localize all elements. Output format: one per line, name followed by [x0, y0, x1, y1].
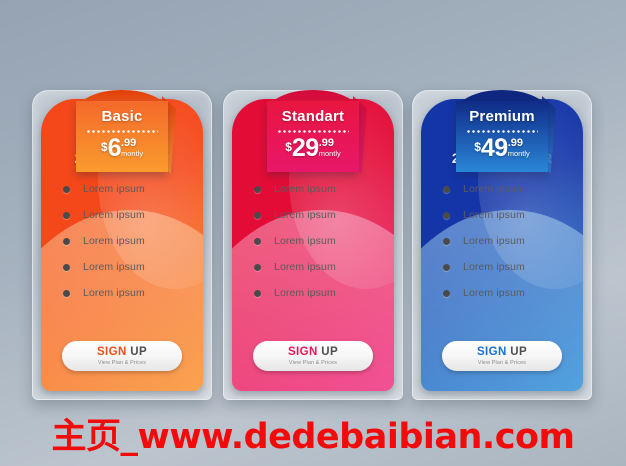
- signup-button[interactable]: SIGN UPView Plan & Prices: [62, 341, 182, 371]
- price-cents: .99: [508, 138, 523, 149]
- feature-list: Lorem ipsumLorem ipsumLorem ipsumLorem i…: [421, 177, 583, 307]
- plan-price: $29.99montly: [271, 137, 355, 163]
- signup-label-up: UP: [507, 346, 527, 358]
- signup-subtext: View Plan & Prices: [289, 360, 337, 366]
- signup-button[interactable]: SIGN UPView Plan & Prices: [253, 341, 373, 371]
- feature-label: Lorem ipsum: [463, 287, 525, 299]
- bullet-icon: [254, 186, 261, 193]
- bullet-icon: [63, 238, 70, 245]
- plan-ribbon: Premium$49.99montly: [456, 90, 548, 172]
- feature-item: Lorem ipsum: [57, 229, 187, 253]
- bullet-icon: [254, 238, 261, 245]
- price-cents: .99: [319, 138, 334, 149]
- feature-label: Lorem ipsum: [83, 235, 145, 247]
- dotted-divider: [277, 130, 349, 133]
- pricing-card-standart: 1 TB - 5 USERLorem ipsumLorem ipsumLorem…: [223, 90, 403, 400]
- plan-ribbon: Basic$6.99montly: [76, 90, 168, 172]
- bullet-icon: [254, 290, 261, 297]
- feature-item: Lorem ipsum: [57, 281, 187, 305]
- feature-item: Lorem ipsum: [437, 281, 567, 305]
- price-suffix: .99montly: [508, 138, 530, 158]
- feature-label: Lorem ipsum: [274, 183, 336, 195]
- feature-item: Lorem ipsum: [248, 177, 378, 201]
- signup-subtext: View Plan & Prices: [478, 360, 526, 366]
- feature-list: Lorem ipsumLorem ipsumLorem ipsumLorem i…: [41, 177, 203, 307]
- feature-label: Lorem ipsum: [463, 183, 525, 195]
- feature-label: Lorem ipsum: [274, 235, 336, 247]
- ribbon-body: Basic$6.99montly: [76, 101, 168, 172]
- feature-item: Lorem ipsum: [248, 229, 378, 253]
- price-amount: 49: [481, 137, 508, 160]
- pricing-plans-row: 2 GB - 1 USERLorem ipsumLorem ipsumLorem…: [0, 62, 626, 402]
- plan-name: Standart: [271, 109, 355, 125]
- feature-label: Lorem ipsum: [463, 235, 525, 247]
- signup-label-sign: SIGN: [477, 346, 507, 358]
- feature-label: Lorem ipsum: [274, 261, 336, 273]
- bullet-icon: [63, 212, 70, 219]
- bullet-icon: [443, 186, 450, 193]
- feature-item: Lorem ipsum: [437, 177, 567, 201]
- price-suffix: .99montly: [319, 138, 341, 158]
- signup-label-up: UP: [127, 346, 147, 358]
- feature-item: Lorem ipsum: [57, 203, 187, 227]
- signup-button[interactable]: SIGN UPView Plan & Prices: [442, 341, 562, 371]
- feature-item: Lorem ipsum: [248, 281, 378, 305]
- plan-name: Premium: [460, 109, 544, 125]
- price-suffix: .99montly: [121, 138, 143, 158]
- signup-subtext: View Plan & Prices: [98, 360, 146, 366]
- feature-item: Lorem ipsum: [248, 203, 378, 227]
- ribbon-body: Premium$49.99montly: [456, 101, 548, 172]
- price-period: montly: [319, 150, 341, 158]
- pricing-card-premium: 2 TB - 10 USERLorem ipsumLorem ipsumLore…: [412, 90, 592, 400]
- feature-label: Lorem ipsum: [83, 287, 145, 299]
- feature-item: Lorem ipsum: [437, 229, 567, 253]
- feature-label: Lorem ipsum: [274, 287, 336, 299]
- bullet-icon: [443, 290, 450, 297]
- ribbon-body: Standart$29.99montly: [267, 101, 359, 172]
- price-cents: .99: [121, 138, 136, 149]
- price-amount: 6: [108, 137, 121, 160]
- dotted-divider: [86, 130, 158, 133]
- price-period: montly: [508, 150, 530, 158]
- plan-name: Basic: [80, 109, 164, 125]
- feature-label: Lorem ipsum: [83, 183, 145, 195]
- signup-label: SIGN UP: [477, 346, 527, 358]
- dotted-divider: [466, 130, 538, 133]
- feature-item: Lorem ipsum: [248, 255, 378, 279]
- signup-label-sign: SIGN: [97, 346, 127, 358]
- bullet-icon: [63, 264, 70, 271]
- price-currency: $: [101, 140, 108, 154]
- bullet-icon: [443, 264, 450, 271]
- feature-item: Lorem ipsum: [57, 255, 187, 279]
- bullet-icon: [63, 290, 70, 297]
- feature-item: Lorem ipsum: [437, 203, 567, 227]
- feature-label: Lorem ipsum: [83, 209, 145, 221]
- plan-price: $49.99montly: [460, 137, 544, 163]
- bullet-icon: [254, 264, 261, 271]
- signup-label: SIGN UP: [97, 346, 147, 358]
- feature-item: Lorem ipsum: [57, 177, 187, 201]
- feature-list: Lorem ipsumLorem ipsumLorem ipsumLorem i…: [232, 177, 394, 307]
- feature-label: Lorem ipsum: [463, 209, 525, 221]
- price-period: montly: [121, 150, 143, 158]
- signup-label: SIGN UP: [288, 346, 338, 358]
- feature-label: Lorem ipsum: [83, 261, 145, 273]
- signup-label-sign: SIGN: [288, 346, 318, 358]
- feature-item: Lorem ipsum: [437, 255, 567, 279]
- plan-ribbon: Standart$29.99montly: [267, 90, 359, 172]
- price-amount: 29: [292, 137, 319, 160]
- bullet-icon: [254, 212, 261, 219]
- signup-label-up: UP: [318, 346, 338, 358]
- bullet-icon: [443, 212, 450, 219]
- price-currency: $: [285, 140, 292, 154]
- pricing-card-basic: 2 GB - 1 USERLorem ipsumLorem ipsumLorem…: [32, 90, 212, 400]
- price-currency: $: [474, 140, 481, 154]
- bullet-icon: [443, 238, 450, 245]
- feature-label: Lorem ipsum: [463, 261, 525, 273]
- site-watermark: 主页_www.dedebaibian.com: [0, 408, 626, 459]
- bullet-icon: [63, 186, 70, 193]
- plan-price: $6.99montly: [80, 137, 164, 163]
- feature-label: Lorem ipsum: [274, 209, 336, 221]
